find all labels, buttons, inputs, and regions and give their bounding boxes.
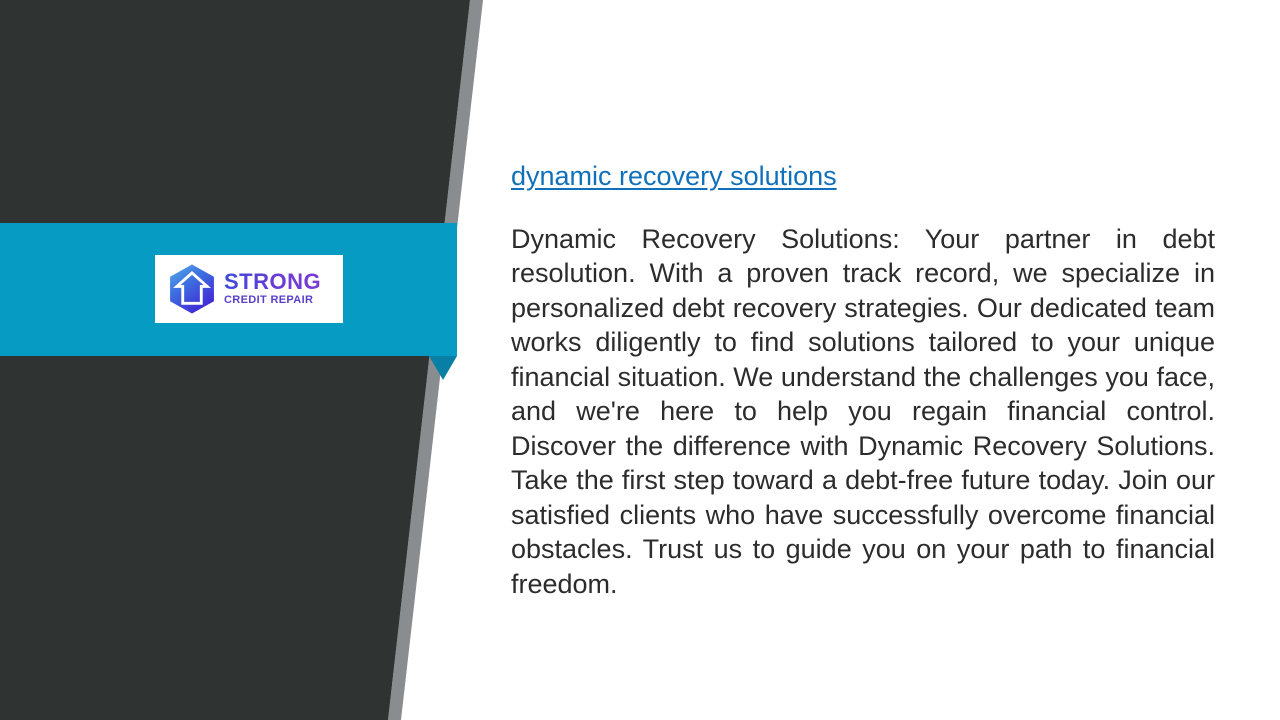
brand-name-primary: STRONG xyxy=(224,271,321,293)
body-paragraph: Dynamic Recovery Solutions: Your partner… xyxy=(511,222,1215,602)
brand-name-secondary: CREDIT REPAIR xyxy=(224,294,321,307)
content-column: dynamic recovery solutions Dynamic Recov… xyxy=(511,160,1215,601)
headline-link[interactable]: dynamic recovery solutions xyxy=(511,160,837,194)
brand-logo-card: STRONG CREDIT REPAIR xyxy=(155,255,343,323)
dark-angled-panel xyxy=(0,0,470,720)
accent-band-fold xyxy=(429,356,457,380)
hexagon-up-arrow-icon xyxy=(165,262,219,316)
brand-wordmark: STRONG CREDIT REPAIR xyxy=(224,271,321,308)
slide-canvas: STRONG CREDIT REPAIR dynamic recovery so… xyxy=(0,0,1280,720)
